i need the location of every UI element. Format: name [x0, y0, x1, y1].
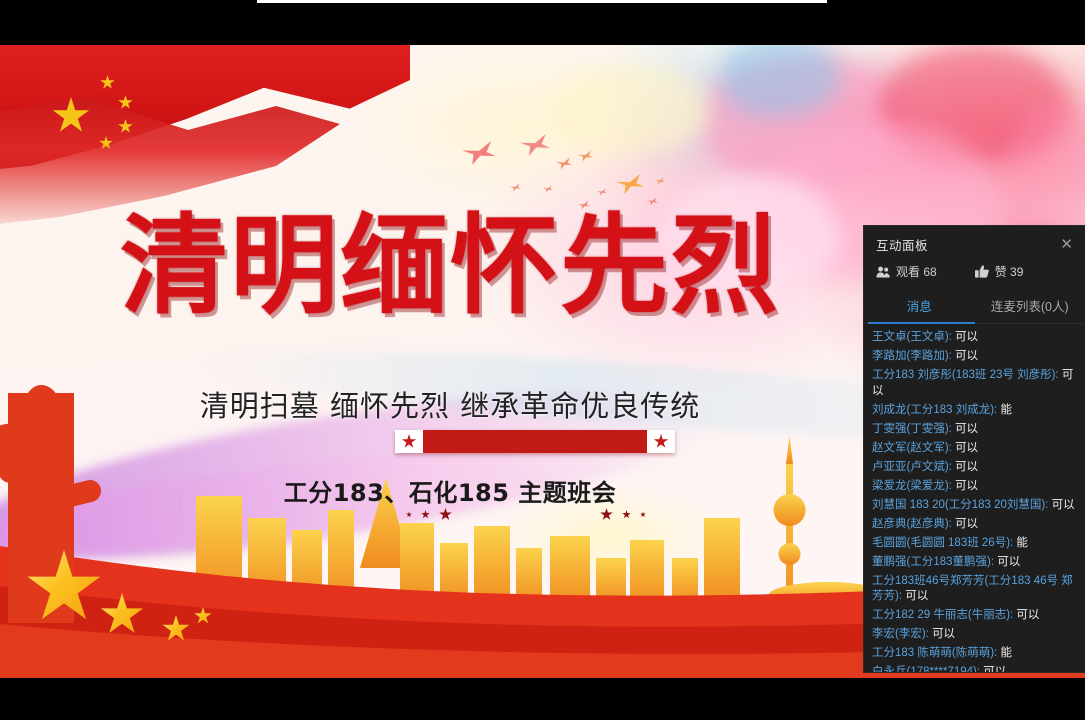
bird-icon: [616, 173, 644, 195]
active-tab-underline: [868, 322, 975, 324]
chat-message-text: 可以: [932, 628, 955, 640]
star-icon: [421, 510, 430, 519]
chat-message: 毛圆圆(毛圆圆 183班 26号): 能: [872, 536, 1077, 552]
thumbs-up-icon: [975, 265, 989, 278]
chat-message: 工分182 29 牛丽志(牛丽志): 可以: [872, 608, 1077, 624]
screen-root: 清明缅怀先烈 清明扫墓 缅怀先烈 继承革命优良传统 工分183、石化185 主题…: [0, 0, 1085, 720]
panel-header: 互动面板 ✕: [864, 226, 1085, 260]
tab-mic-list[interactable]: 连麦列表(0人): [975, 289, 1085, 323]
chat-message: 赵彦典(赵彦典): 可以: [872, 517, 1077, 533]
bird-icon: [655, 177, 665, 185]
chat-message-author: 赵彦典(赵彦典):: [872, 518, 955, 530]
viewer-count-label: 观看 68: [896, 263, 937, 280]
star-icon: [600, 508, 613, 521]
chat-message-text: 可以: [955, 480, 978, 492]
bird-icon: [520, 133, 550, 157]
panel-tabs[interactable]: 消息 连麦列表(0人): [864, 289, 1085, 324]
tab-messages[interactable]: 消息: [864, 289, 975, 323]
star-icon: [402, 434, 417, 449]
bird-icon: [510, 183, 521, 192]
decorative-star-row-left: [406, 508, 452, 521]
chat-message: 刘成龙(工分183 刘成龙): 能: [872, 403, 1077, 419]
decor-blob: [550, 65, 710, 155]
chat-message-author: 赵文军(赵文军):: [872, 442, 955, 454]
message-list[interactable]: 王文卓(王文卓): 可以李路加(李路加): 可以工分183 刘彦彤(183班 2…: [864, 324, 1085, 672]
chat-message-author: 工分182 29 牛丽志(牛丽志):: [872, 609, 1016, 621]
top-white-strip: [257, 0, 827, 3]
bird-icon: [543, 185, 553, 193]
people-icon: [876, 266, 890, 278]
bird-icon: [556, 157, 572, 170]
chat-message-text: 能: [1000, 404, 1012, 416]
chat-message-author: 梁爱龙(梁爱龙):: [872, 480, 955, 492]
star-icon: [654, 434, 669, 449]
chat-message: 工分183 陈萌萌(陈萌萌): 能: [872, 646, 1077, 662]
interaction-panel[interactable]: 互动面板 ✕ 观看 68 赞 39 消息: [864, 226, 1085, 672]
chat-message: 工分183 刘彦彤(183班 23号 刘彦彤): 可以: [872, 368, 1077, 399]
chat-message-text: 可以: [997, 556, 1020, 568]
like-count: 赞 39: [975, 263, 1024, 280]
chat-message: 梁爱龙(梁爱龙): 可以: [872, 479, 1077, 495]
chat-message-author: 工分183 刘彦彤(183班 23号 刘彦彤):: [872, 369, 1062, 381]
chat-message-text: 可以: [983, 666, 1006, 672]
chat-message-author: 刘慧国 183 20(工分183 20刘慧国):: [872, 499, 1052, 511]
chat-message: 刘慧国 183 20(工分183 20刘慧国): 可以: [872, 498, 1077, 514]
chat-message-author: 李路加(李路加):: [872, 350, 955, 362]
chat-message: 白永兵(178****7194): 可以: [872, 665, 1077, 672]
chat-message: 卢亚亚(卢文斌): 可以: [872, 460, 1077, 476]
class-meeting-label: 工分183、石化185 主题班会: [0, 473, 900, 508]
decorative-star-row-right: [600, 508, 646, 521]
chat-message-author: 刘成龙(工分183 刘成龙):: [872, 404, 1000, 416]
bird-icon: [597, 188, 607, 196]
slide-subtitle: 清明扫墓 缅怀先烈 继承革命优良传统: [0, 383, 900, 425]
chat-message-text: 可以: [1052, 499, 1075, 511]
chat-message-text: 能: [1016, 537, 1028, 549]
chat-message: 李路加(李路加): 可以: [872, 349, 1077, 365]
chat-message-text: 可以: [955, 331, 978, 343]
page-title: 清明缅怀先烈: [0, 203, 900, 330]
chat-message-author: 卢亚亚(卢文斌):: [872, 461, 955, 473]
star-icon: [439, 508, 452, 521]
bird-icon: [462, 140, 496, 166]
chat-message-author: 白永兵(178****7194):: [872, 666, 983, 672]
chat-message-text: 可以: [955, 518, 978, 530]
chat-message-author: 毛圆圆(毛圆圆 183班 26号):: [872, 537, 1016, 549]
chat-message-author: 李宏(李宏):: [872, 628, 932, 640]
chat-message-text: 可以: [905, 590, 928, 602]
star-icon: [406, 512, 412, 518]
chat-message: 赵文军(赵文军): 可以: [872, 441, 1077, 457]
panel-stats: 观看 68 赞 39: [864, 260, 1085, 289]
star-icon: [640, 512, 646, 518]
chat-message-author: 董鹏强(工分183董鹏强):: [872, 556, 997, 568]
bottom-black-bar: [0, 678, 1085, 720]
chat-message: 工分183班46号郑芳芳(工分183 46号 郑芳芳): 可以: [872, 574, 1077, 605]
viewer-count: 观看 68: [876, 263, 937, 280]
chat-message-text: 能: [1000, 647, 1012, 659]
chat-message: 王文卓(王文卓): 可以: [872, 330, 1077, 346]
chat-message-author: 丁雯强(丁雯强):: [872, 423, 955, 435]
chat-message-text: 可以: [1016, 609, 1039, 621]
chat-message: 李宏(李宏): 可以: [872, 627, 1077, 643]
star-icon: [622, 510, 631, 519]
like-count-label: 赞 39: [995, 263, 1024, 280]
chat-message: 丁雯强(丁雯强): 可以: [872, 422, 1077, 438]
close-icon[interactable]: ✕: [1058, 237, 1075, 252]
panel-title: 互动面板: [876, 235, 928, 254]
chat-message-author: 工分183班46号郑芳芳(工分183 46号 郑芳芳):: [872, 575, 1073, 603]
chat-message-text: 可以: [955, 442, 978, 454]
banner-cap-right: [647, 430, 675, 453]
chat-message-text: 可以: [955, 423, 978, 435]
red-banner: [395, 430, 675, 453]
chat-message-text: 可以: [955, 350, 978, 362]
chat-message-author: 工分183 陈萌萌(陈萌萌):: [872, 647, 1000, 659]
chat-message: 董鹏强(工分183董鹏强): 可以: [872, 555, 1077, 571]
chat-message-text: 可以: [955, 461, 978, 473]
banner-cap-left: [395, 430, 423, 453]
chat-message-author: 王文卓(王文卓):: [872, 331, 955, 343]
